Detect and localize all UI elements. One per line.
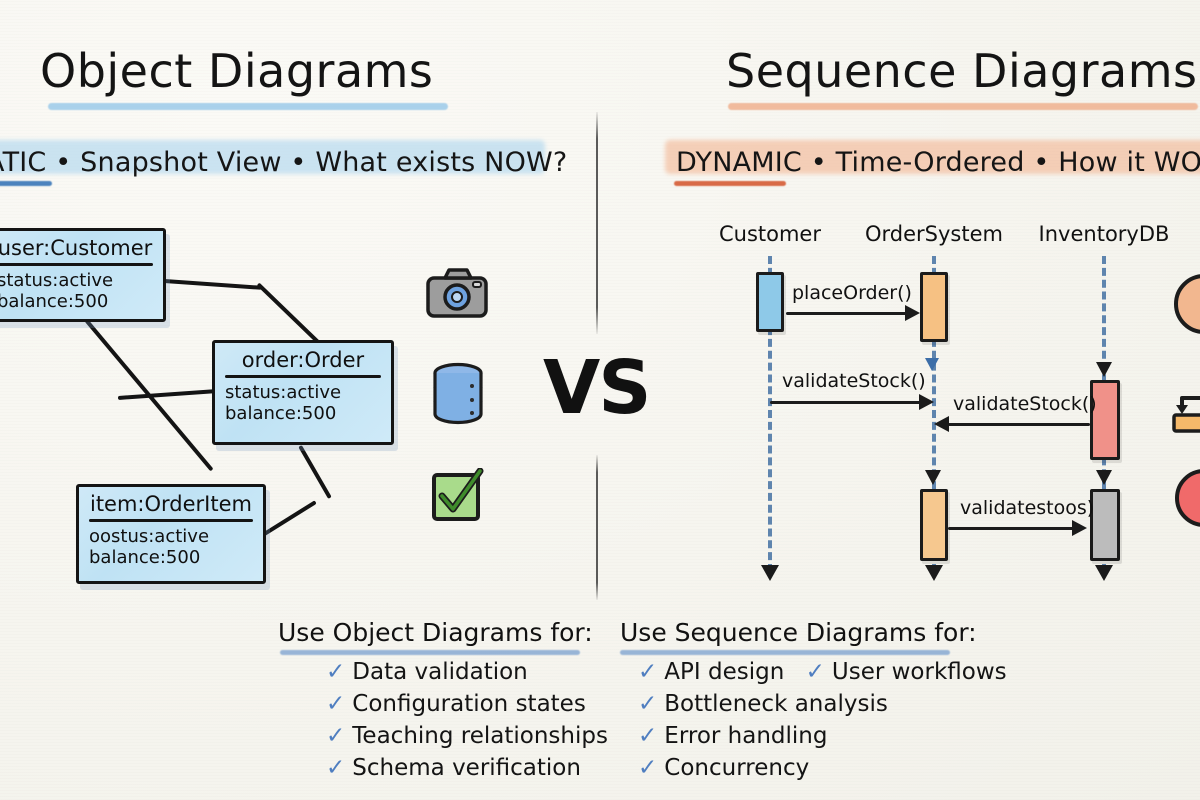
- vs-label: VS: [543, 345, 650, 431]
- right-list-item[interactable]: ✓Error handling: [638, 723, 827, 749]
- right-list-item-label: Concurrency: [664, 755, 809, 781]
- divider-top: [596, 112, 598, 334]
- lifeline-end-arrow-ordersystem: [925, 565, 943, 581]
- check-icon: ✓: [638, 723, 657, 749]
- message-line-validatestoos: [948, 527, 1074, 530]
- check-icon: ✓: [326, 691, 345, 717]
- message-arrow-validate-stock-1: [919, 394, 934, 410]
- left-panel-title: Object Diagrams: [40, 44, 433, 98]
- alert-circle-icon: [1172, 466, 1200, 534]
- right-list-item[interactable]: ✓API design ✓User workflows: [638, 659, 1007, 685]
- activation-ordersystem-1[interactable]: [920, 272, 948, 342]
- object-link-order-item-a: [298, 445, 331, 499]
- object-link-mid: [118, 389, 218, 400]
- clock-icon: [1172, 272, 1200, 340]
- object-attr: status:active: [0, 270, 163, 291]
- right-list-heading-rule: [620, 650, 950, 655]
- lifeline-label-inventorydb: InventoryDB: [1034, 222, 1174, 246]
- lifeline-label-ordersystem: OrderSystem: [864, 222, 1004, 246]
- object-box-user-separator: [0, 263, 153, 266]
- right-list-item[interactable]: ✓Bottleneck analysis: [638, 691, 888, 717]
- right-list-item-label: Error handling: [664, 723, 827, 749]
- message-label-validate-stock-1: validateStock(): [782, 370, 926, 392]
- right-list-item[interactable]: ✓Concurrency: [638, 755, 809, 781]
- check-icon: ✓: [806, 659, 825, 685]
- divider-bottom: [596, 455, 598, 600]
- right-subtitle: DYNAMIC • Time-Ordered • How it WOR: [676, 147, 1200, 178]
- object-box-item-name: item:OrderItem: [79, 487, 263, 519]
- activation-entry-arrow-ordersystem: [925, 358, 939, 371]
- message-line-place-order: [786, 312, 908, 315]
- check-icon: ✓: [638, 691, 657, 717]
- right-title-underline: [728, 103, 1198, 110]
- left-list-item[interactable]: ✓Configuration states: [326, 691, 586, 717]
- left-title-underline: [48, 103, 448, 110]
- object-box-user[interactable]: user:Customer status:active balance:500: [0, 228, 166, 322]
- object-box-user-attrs: status:active balance:500: [0, 270, 163, 318]
- left-subtitle: ATIC • Snapshot View • What exists NOW?: [0, 147, 567, 178]
- object-attr: balance:500: [225, 403, 391, 424]
- activation-customer-1[interactable]: [756, 272, 784, 332]
- check-icon: ✓: [638, 755, 657, 781]
- lifeline-end-arrow-inventorydb: [1095, 565, 1113, 581]
- checkbox-check-icon: [430, 468, 486, 528]
- message-label-validatestoos: validatestoos): [960, 497, 1094, 519]
- check-icon: ✓: [638, 659, 657, 685]
- left-list-item[interactable]: ✓Data validation: [326, 659, 528, 685]
- activation-inventorydb-2[interactable]: [1090, 489, 1120, 561]
- message-label-validate-stock-2: validateStock(): [953, 393, 1097, 415]
- object-attr: balance:500: [0, 291, 163, 312]
- loop-self-call-icon: [1168, 388, 1200, 442]
- object-box-item-attrs: oostus:active balance:500: [79, 526, 263, 574]
- activation-entry-arrow-inventorydb-2: [1096, 470, 1112, 485]
- camera-icon: [425, 266, 489, 326]
- lifeline-label-customer: Customer: [700, 222, 840, 246]
- message-arrow-validatestoos: [1072, 520, 1087, 536]
- right-list-item-label: User workflows: [832, 659, 1007, 685]
- message-line-validate-stock-1: [770, 401, 924, 404]
- activation-entry-arrow-ordersystem-2: [925, 470, 941, 485]
- left-list-item[interactable]: ✓Schema verification: [326, 755, 581, 781]
- check-icon: ✓: [326, 659, 345, 685]
- left-list-item[interactable]: ✓Teaching relationships: [326, 723, 608, 749]
- object-box-order-name: order:Order: [215, 343, 391, 375]
- object-box-item-separator: [89, 519, 253, 522]
- right-list-item-label: API design: [664, 659, 784, 685]
- message-arrow-validate-stock-2: [934, 416, 949, 432]
- message-line-validate-stock-2: [948, 423, 1090, 426]
- right-subtitle-rule: [674, 181, 786, 186]
- left-list-item-label: Configuration states: [352, 691, 586, 717]
- left-list-heading-rule: [280, 650, 580, 655]
- object-box-order-separator: [225, 375, 381, 378]
- lifeline-end-arrow-customer: [761, 565, 779, 581]
- check-icon: ✓: [326, 723, 345, 749]
- object-box-order-attrs: status:active balance:500: [215, 382, 391, 430]
- message-arrow-place-order: [905, 305, 920, 321]
- activation-entry-arrow-inventorydb: [1096, 362, 1112, 377]
- activation-inventorydb-1[interactable]: [1090, 380, 1120, 460]
- object-attr: oostus:active: [89, 526, 263, 547]
- left-list-item-label: Schema verification: [352, 755, 581, 781]
- object-attr: balance:500: [89, 547, 263, 568]
- right-list-heading: Use Sequence Diagrams for:: [620, 618, 977, 647]
- left-subtitle-rule: [0, 181, 52, 186]
- database-icon: [430, 362, 486, 430]
- message-label-place-order: placeOrder(): [792, 282, 912, 304]
- object-box-order[interactable]: order:Order status:active balance:500: [212, 340, 394, 445]
- left-list-item-label: Data validation: [352, 659, 527, 685]
- object-box-user-name: user:Customer: [0, 231, 163, 263]
- check-icon: ✓: [326, 755, 345, 781]
- object-attr: status:active: [225, 382, 391, 403]
- object-link-user-order-a: [150, 278, 262, 290]
- whiteboard-canvas: Object Diagrams ATIC • Snapshot View • W…: [0, 0, 1200, 800]
- left-list-heading: Use Object Diagrams for:: [278, 618, 593, 647]
- object-box-item[interactable]: item:OrderItem oostus:active balance:500: [76, 484, 266, 584]
- left-list-item-label: Teaching relationships: [352, 723, 608, 749]
- activation-ordersystem-2[interactable]: [920, 489, 948, 561]
- right-list-item-label: Bottleneck analysis: [664, 691, 888, 717]
- right-panel-title: Sequence Diagrams: [726, 44, 1198, 98]
